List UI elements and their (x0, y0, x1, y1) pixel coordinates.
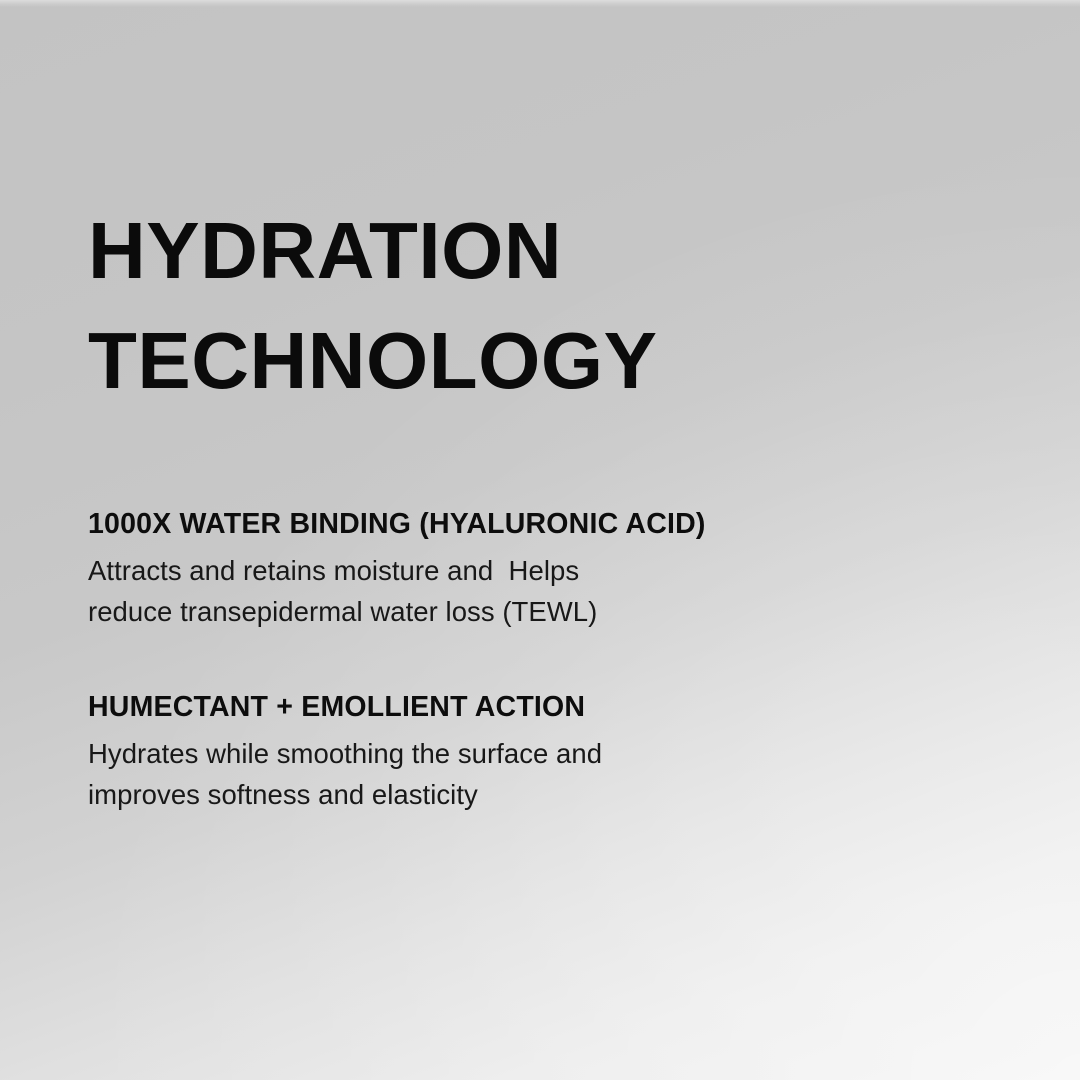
page-title: HYDRATION TECHNOLOGY (88, 196, 657, 416)
feature-body-line-1: Attracts and retains moisture and Helps (88, 550, 988, 591)
feature-list: 1000X WATER BINDING (HYALURONIC ACID) At… (88, 505, 988, 815)
feature-body-line-2: improves softness and elasticity (88, 774, 988, 815)
feature-heading-water-binding: 1000X WATER BINDING (HYALURONIC ACID) (88, 505, 988, 543)
page-title-line-2: TECHNOLOGY (88, 306, 657, 416)
content-area: HYDRATION TECHNOLOGY 1000X WATER BINDING… (88, 0, 1028, 1080)
feature-body-line-1: Hydrates while smoothing the surface and (88, 733, 988, 774)
feature-heading-humectant-emollient: HUMECTANT + EMOLLIENT ACTION (88, 688, 988, 726)
feature-body-water-binding: Attracts and retains moisture and Helps … (88, 550, 988, 632)
slide-canvas: HYDRATION TECHNOLOGY 1000X WATER BINDING… (0, 0, 1080, 1080)
feature-block-water-binding: 1000X WATER BINDING (HYALURONIC ACID) At… (88, 505, 988, 632)
feature-body-line-2: reduce transepidermal water loss (TEWL) (88, 591, 988, 632)
page-title-line-1: HYDRATION (88, 196, 657, 306)
feature-body-humectant-emollient: Hydrates while smoothing the surface and… (88, 733, 988, 815)
feature-block-humectant-emollient: HUMECTANT + EMOLLIENT ACTION Hydrates wh… (88, 688, 988, 815)
